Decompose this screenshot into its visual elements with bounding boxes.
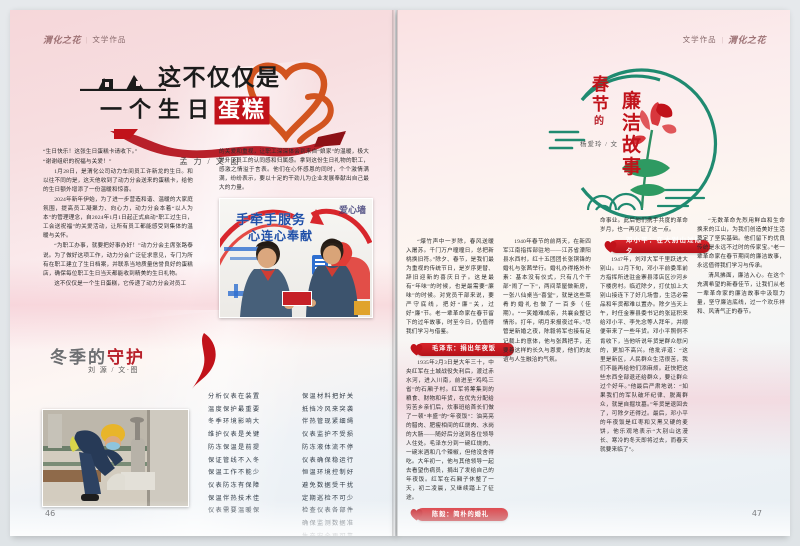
page-right: 文学作品 | 渭化之花 [397, 10, 790, 536]
photo-birthday-ceremony: 手牵手服务 心连心奉献 爱心墙 [219, 198, 373, 318]
verse-line: 防冻液体流不停 [302, 442, 394, 455]
article-birthday-column-2: 的关爱和重视，让职工深深体会到来自“娘家”的温暖，极大提升了员工的认同感和归属感… [219, 148, 369, 194]
running-head-left: 渭化之花 | 文学作品 [43, 33, 126, 46]
running-head-right: 文学作品 | 渭化之花 [683, 33, 766, 46]
paragraph: 1935年2月3日是大年三十，中央红军在土城战役失利后，渡过赤水河，进入川南，前… [406, 359, 494, 504]
verse-line: 恒温环境控制好 [302, 467, 394, 480]
page-number-right: 47 [752, 509, 762, 518]
page-left: 渭化之花 | 文学作品 这不仅仅是 一个生日蛋糕 [10, 10, 395, 536]
paragraph: 的关爱和重视，让职工深深体会到来自“娘家”的温暖，极大提升了员工的认同感和归属感… [219, 148, 369, 193]
article-spring-emblem: 春 节 的 廉 洁 故 事 杨爱玲 / 文 [548, 60, 726, 228]
running-head-divider: | [86, 36, 87, 44]
spread-gutter [392, 10, 398, 536]
section-label: 文学作品 [683, 34, 717, 45]
article-spring-column-1: “爆竹声中一岁除，春风送暖入屠苏。千门万户曈曈日，总把新桃换旧符。”除夕、春节，… [406, 238, 494, 524]
article-spring-byline: 杨爱玲 / 文 [580, 138, 618, 148]
paragraph: “生日快乐！这张生日蛋糕卡请收下。” [43, 148, 193, 157]
paragraph: “无数革命先烈用鲜血和生命换来的江山，为我们创造美好生活奠定了坚实基础。他们留下… [697, 217, 785, 271]
magazine-spread: 渭化之花 | 文学作品 这不仅仅是 一个生日蛋糕 [0, 0, 800, 546]
article-birthday-column-1: “生日快乐！这张生日蛋糕卡请收下。” “谢谢组织的祝福与关爱！” 1月28日，是… [43, 148, 193, 290]
magazine-logo: 渭化之花 [43, 33, 81, 46]
verse-line: 避免数据受干扰 [302, 480, 394, 493]
section-heading-label: 毛泽东：捐出年夜饭 [432, 344, 496, 354]
paragraph: 这不仅仅是一个生日蛋糕，它传递了动力分会对员工 [43, 280, 193, 289]
section-heading-mao: 毛泽东：捐出年夜饭 [416, 343, 514, 356]
verse-line: 仪表监护不受损 [302, 429, 394, 442]
verse-line: 分析仪表在装置 [208, 391, 294, 404]
article-spring-column-3: 命事业。此后他们携手共度的革命岁月，也一再见证了这一点。 邓小平：在大别山过除夕… [600, 217, 688, 456]
verse-line: 维护仪表是关键 [208, 429, 294, 442]
paragraph: “为职工办事，就要把好事办好！”动力分会主席张路泰说。为了做好这项工作，动力分会… [43, 242, 193, 278]
verse-line: 抵挡冷风来突袭 [302, 404, 394, 417]
article-winter-byline: 刘 源 / 文·图 [88, 365, 139, 375]
verse-line: 冬季环境影响大 [208, 416, 294, 429]
magazine-logo: 渭化之花 [728, 33, 766, 46]
box-object [354, 301, 370, 315]
section-label: 文学作品 [92, 34, 126, 45]
paragraph: “谢谢组织的祝福与关爱！” [43, 158, 193, 167]
section-heading-label: 邓小平：在大别山过除夕 [626, 236, 702, 256]
verse-line: 伴热管现紧细绳 [302, 416, 394, 429]
headline-highlight: 蛋糕 [216, 98, 268, 123]
verse-line: 保温工作不能少 [208, 467, 294, 480]
verse-line: 防冻保温是前提 [208, 442, 294, 455]
verse-line: 仪表确保稳运行 [302, 455, 394, 468]
red-swoosh-icon [170, 331, 230, 391]
article-winter-headline: 冬季的守护 刘 源 / 文·图 [50, 343, 250, 385]
plant-scene-graphic [43, 410, 188, 506]
paragraph: 1940年春节的前两天，在新四军江南指挥部驻地——江苏省溧阳县水西村，红十五团团… [503, 238, 591, 365]
paragraph: 命事业。此后他们携手共度的革命岁月，也一再见证了这一点。 [600, 217, 688, 235]
heart-icon [409, 342, 424, 357]
verse-line: 保温材料把好关 [302, 391, 394, 404]
emblem-char-de: 的 [594, 112, 604, 127]
heart-icon [603, 239, 618, 254]
photo-winter-maintenance [42, 409, 189, 507]
red-envelope [282, 291, 312, 306]
headline-line-2-plain: 一个生日 [100, 98, 216, 123]
page-bottom-gradient [397, 500, 790, 536]
photo-caption-line-1: 手牵手服务 [236, 209, 306, 228]
paragraph: 2024年新年伊始，为了进一步营造和谐、温暖的大家庭氛围，提高员工凝聚力、向心力… [43, 196, 193, 241]
headline-line-1: 这不仅仅是 [158, 58, 281, 92]
verse-line: 仪表防冻有保障 [208, 480, 294, 493]
article-birthday-headline: 这不仅仅是 一个生日蛋糕 孟 力 / 文·图 [80, 55, 340, 150]
paragraph: 清风拂面，廉洁入心。在这个充满希望的新春佳节，让我们从老一辈革命家的廉洁故事中汲… [697, 272, 785, 317]
page-number-left: 46 [45, 509, 55, 518]
photo-corner-text: 爱心墙 [339, 203, 366, 216]
headline-line-2: 一个生日蛋糕 [100, 92, 268, 124]
paragraph: 1947年，刘邓大军千里跃进大别山。12月下旬，邓小平前委率前方指挥所进驻金寨县… [600, 256, 688, 455]
verse-line: 保证管线不入冬 [208, 455, 294, 468]
article-spring-column-4: “无数革命先烈用鲜血和生命换来的江山，为我们创造美好生活奠定了坚实基础。他们留下… [697, 217, 785, 319]
verse-line: 温度保护最重要 [208, 404, 294, 417]
page-bottom-gradient [10, 500, 395, 536]
cloud-motif-left [550, 132, 584, 148]
running-head-divider: | [722, 36, 723, 44]
article-spring-column-2: 1940年春节的前两天，在新四军江南指挥部驻地——江苏省溧阳县水西村，红十五团团… [503, 238, 591, 366]
section-heading-deng: 邓小平：在大别山过除夕 [610, 240, 710, 253]
article-winter-verses-left: 分析仪表在装置 温度保护最重要 冬季环境影响大 维护仪表是关键 防冻保温是前提 … [208, 391, 294, 518]
paragraph: “爆竹声中一岁除，春风送暖入屠苏。千门万户曈曈日，总把新桃换旧符。”除夕、春节，… [406, 238, 494, 338]
rooftop-illustration [80, 69, 166, 91]
paragraph: 1月28日，是渭化公司动力车间员工许新龙的生日。和以往不同的是，这天他收到了动力… [43, 168, 193, 195]
emblem-char-shi: 事 [622, 152, 641, 179]
